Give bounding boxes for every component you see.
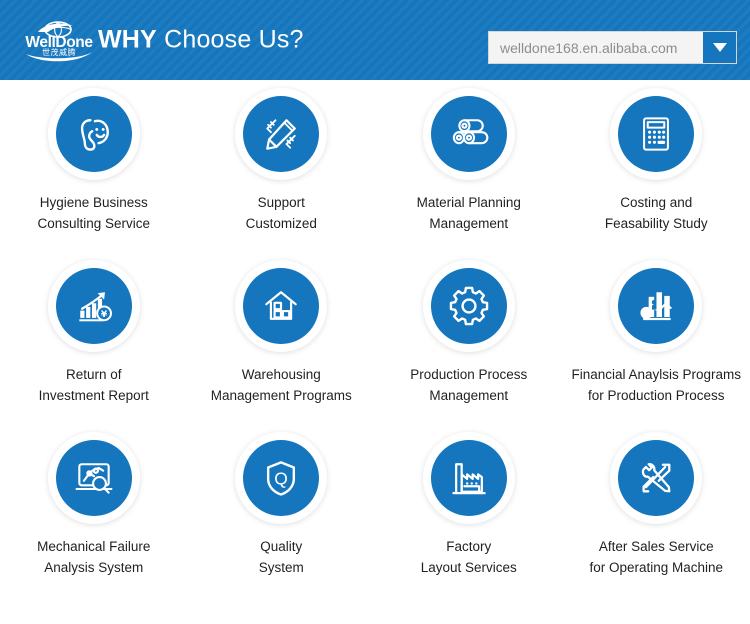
service-icon-badge — [243, 96, 319, 172]
brand-logo[interactable]: WellDone 世茂威腾 — [18, 18, 100, 64]
store-url-bar[interactable]: welldone168.en.alibaba.com — [488, 31, 737, 64]
url-dropdown-button[interactable] — [703, 32, 736, 63]
service-icon-badge — [618, 440, 694, 516]
service-item[interactable]: Costing and Feasability Study — [563, 96, 750, 268]
service-icon-badge: Q — [243, 440, 319, 516]
service-icon-badge — [618, 96, 694, 172]
service-item[interactable]: Financial Anaylsis Programs for Producti… — [563, 268, 750, 440]
pencil-ruler-icon — [259, 112, 303, 156]
service-label: Mechanical Failure Analysis System — [37, 536, 150, 578]
service-label: Material Planning Management — [417, 192, 521, 234]
service-label: Quality System — [259, 536, 304, 578]
page-title-light: Choose Us? — [157, 26, 304, 54]
service-label: Warehousing Management Programs — [211, 364, 352, 406]
service-icon-badge — [56, 440, 132, 516]
page-header: WellDone 世茂威腾 WHY Choose Us? welldone168… — [0, 0, 750, 80]
service-item[interactable]: Warehousing Management Programs — [188, 268, 376, 440]
logo-chinese-name: 世茂威腾 — [18, 49, 100, 57]
service-label: Financial Anaylsis Programs for Producti… — [571, 364, 741, 406]
service-icon-badge — [243, 268, 319, 344]
store-url-text[interactable]: welldone168.en.alibaba.com — [489, 40, 703, 56]
service-label: Costing and Feasability Study — [605, 192, 708, 234]
service-label: Hygiene Business Consulting Service — [37, 192, 150, 234]
financial-analysis-icon — [634, 284, 678, 328]
service-item[interactable]: Hygiene Business Consulting Service — [0, 96, 188, 268]
service-icon-badge: ¥ — [56, 268, 132, 344]
page-title-bold: WHY — [98, 26, 157, 54]
service-icon-badge — [431, 268, 507, 344]
warehouse-boxes-icon — [259, 284, 303, 328]
service-item[interactable]: Factory Layout Services — [375, 440, 563, 612]
service-label: Production Process Management — [410, 364, 527, 406]
service-icon-badge — [431, 440, 507, 516]
service-label: After Sales Service for Operating Machin… — [589, 536, 723, 578]
shield-q-icon: Q — [259, 456, 303, 500]
service-item[interactable]: ¥ Return of Investment Report — [0, 268, 188, 440]
svg-text:¥: ¥ — [101, 309, 108, 320]
service-item[interactable]: After Sales Service for Operating Machin… — [563, 440, 750, 612]
caret-down-icon — [713, 43, 727, 52]
service-icon-badge — [618, 268, 694, 344]
service-label: Support Customized — [246, 192, 317, 234]
calculator-icon — [634, 112, 678, 156]
monitor-magnifier-icon — [72, 456, 116, 500]
service-item[interactable]: Material Planning Management — [375, 96, 563, 268]
services-grid: Hygiene Business Consulting Service Supp… — [0, 96, 750, 612]
factory-icon — [447, 456, 491, 500]
service-icon-badge — [431, 96, 507, 172]
service-label: Factory Layout Services — [421, 536, 517, 578]
page-title: WHY Choose Us? — [98, 26, 304, 55]
gear-icon — [447, 284, 491, 328]
svg-text:Q: Q — [274, 468, 288, 488]
service-icon-badge — [56, 96, 132, 172]
service-item[interactable]: Production Process Management — [375, 268, 563, 440]
material-rolls-icon — [447, 112, 491, 156]
wrench-screwdriver-icon — [634, 456, 678, 500]
service-item[interactable]: Mechanical Failure Analysis System — [0, 440, 188, 612]
growth-chart-coin-icon: ¥ — [72, 284, 116, 328]
service-label: Return of Investment Report — [39, 364, 149, 406]
phone-smile-icon — [72, 112, 116, 156]
service-item[interactable]: Q Quality System — [188, 440, 376, 612]
service-item[interactable]: Support Customized — [188, 96, 376, 268]
why-choose-us-page: WellDone 世茂威腾 WHY Choose Us? welldone168… — [0, 0, 750, 624]
